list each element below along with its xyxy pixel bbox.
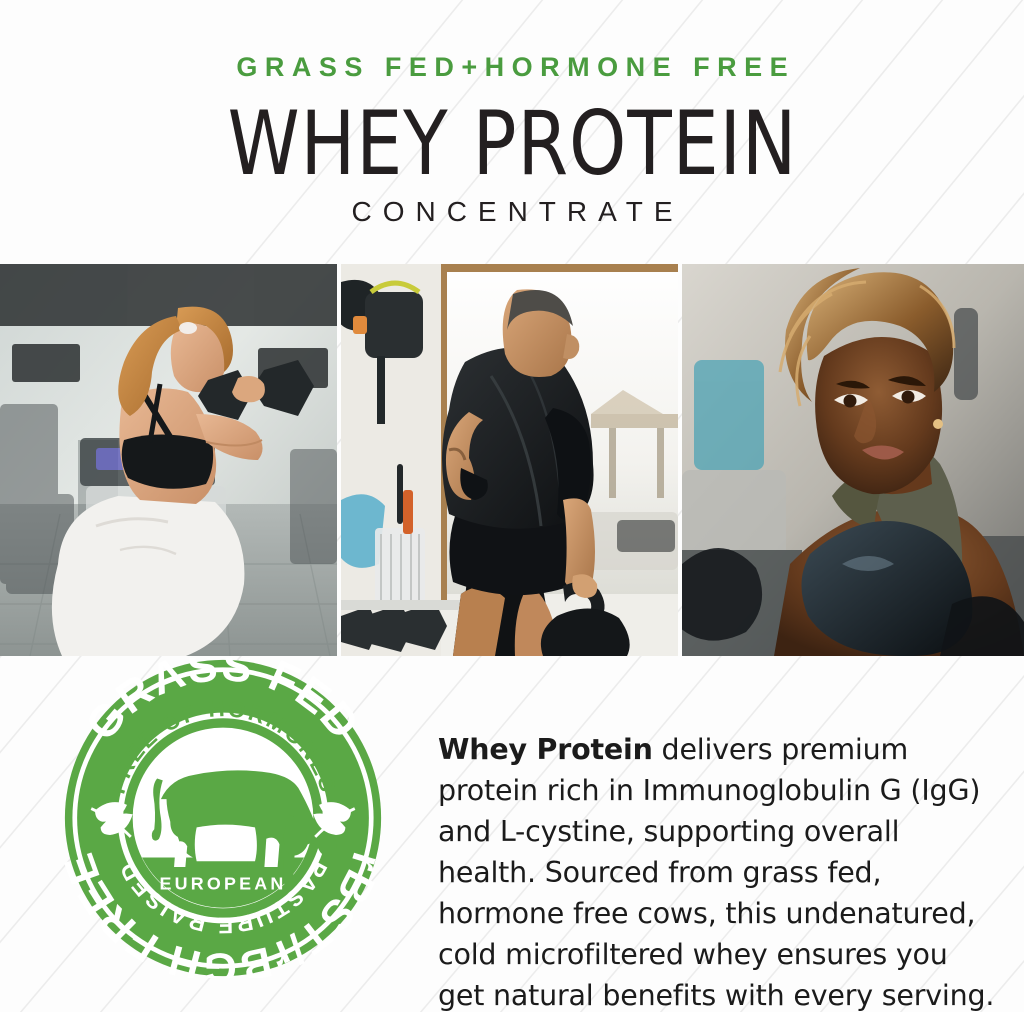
photo-woman-squat-dumbbells [0, 264, 337, 656]
header: GRASS FED+HORMONE FREE WHEY PROTEIN CONC… [0, 0, 1024, 258]
product-infographic: GRASS FED+HORMONE FREE WHEY PROTEIN CONC… [0, 0, 1024, 1012]
eyebrow-tagline: GRASS FED+HORMONE FREE [0, 52, 1024, 83]
photo-man-kettlebell [341, 264, 678, 656]
page-subtitle: CONCENTRATE [0, 196, 1024, 228]
product-description: Whey Protein delivers premium protein ri… [438, 729, 998, 1012]
photo-strip [0, 264, 1024, 656]
photo-woman-boxing [682, 264, 1024, 656]
page-title: WHEY PROTEIN [41, 96, 983, 192]
badge-center-text: EUROPEAN [160, 874, 287, 894]
description-lead: Whey Protein [438, 733, 653, 766]
grass-fed-badge: GRASS FED rBST/rBGH FREE FREE OF HORMONE… [54, 658, 392, 978]
description-body: delivers premium protein rich in Immunog… [438, 733, 994, 1012]
